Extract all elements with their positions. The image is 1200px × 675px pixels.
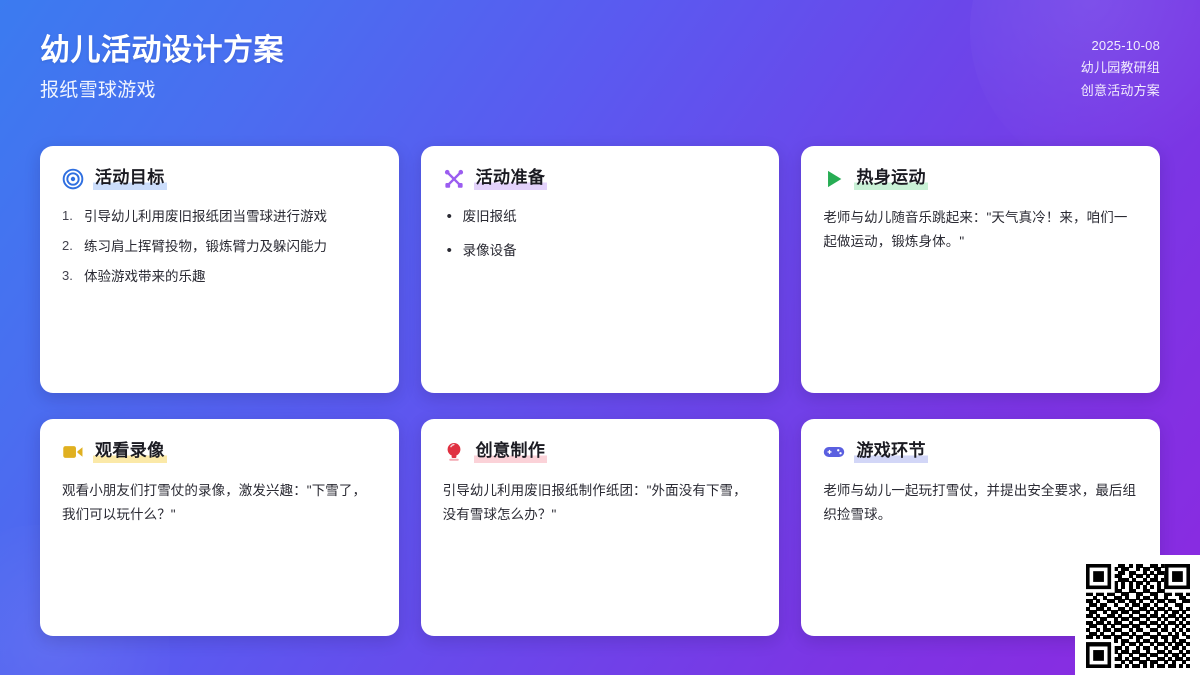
card-body: 老师与幼儿随音乐跳起来："天气真冷！来，咱们一起做运动，锻炼身体。" bbox=[823, 206, 1138, 254]
play-icon bbox=[823, 168, 845, 190]
card-title: 创意制作 bbox=[474, 441, 548, 463]
card-title: 热身运动 bbox=[854, 168, 928, 190]
card-body: 引导幼儿利用废旧报纸团当雪球进行游戏 练习肩上挥臂投物，锻炼臂力及躲闪能力 体验… bbox=[62, 206, 377, 295]
card-objectives[interactable]: 活动目标 引导幼儿利用废旧报纸团当雪球进行游戏 练习肩上挥臂投物，锻炼臂力及躲闪… bbox=[40, 146, 399, 393]
qr-code[interactable] bbox=[1075, 555, 1200, 675]
list-item: 引导幼儿利用废旧报纸团当雪球进行游戏 bbox=[62, 206, 377, 228]
card-header: 热身运动 bbox=[823, 168, 1138, 190]
card-paragraph: 老师与幼儿随音乐跳起来："天气真冷！来，咱们一起做运动，锻炼身体。" bbox=[823, 206, 1138, 254]
card-title: 活动目标 bbox=[93, 168, 167, 190]
card-preparation[interactable]: 活动准备 废旧报纸 录像设备 bbox=[421, 146, 780, 393]
card-body: 废旧报纸 录像设备 bbox=[443, 206, 758, 273]
card-creative-making[interactable]: 创意制作 引导幼儿利用废旧报纸制作纸团："外面没有下雪，没有雪球怎么办？" bbox=[421, 419, 780, 636]
list-item: 录像设备 bbox=[443, 240, 758, 262]
card-paragraph: 老师与幼儿一起玩打雪仗，并提出安全要求，最后组织捡雪球。 bbox=[823, 479, 1138, 527]
card-header: 创意制作 bbox=[443, 441, 758, 463]
game-controller-icon bbox=[823, 441, 845, 463]
meta-date: 2025-10-08 bbox=[1092, 35, 1161, 57]
card-title: 活动准备 bbox=[474, 168, 548, 190]
card-body: 引导幼儿利用废旧报纸制作纸团："外面没有下雪，没有雪球怎么办？" bbox=[443, 479, 758, 527]
meta-organization: 幼儿园教研组 bbox=[1081, 57, 1160, 79]
objectives-list: 引导幼儿利用废旧报纸团当雪球进行游戏 练习肩上挥臂投物，锻炼臂力及躲闪能力 体验… bbox=[62, 206, 377, 287]
tools-icon bbox=[443, 168, 465, 190]
list-item: 练习肩上挥臂投物，锻炼臂力及躲闪能力 bbox=[62, 236, 377, 258]
card-paragraph: 引导幼儿利用废旧报纸制作纸团："外面没有下雪，没有雪球怎么办？" bbox=[443, 479, 758, 527]
card-header: 游戏环节 bbox=[823, 441, 1138, 463]
header-meta-block: 2025-10-08 幼儿园教研组 创意活动方案 bbox=[1081, 32, 1160, 102]
list-item: 体验游戏带来的乐趣 bbox=[62, 266, 377, 288]
meta-category: 创意活动方案 bbox=[1081, 80, 1160, 102]
lightbulb-icon bbox=[443, 441, 465, 463]
qr-code-canvas bbox=[1086, 564, 1190, 668]
page-title: 幼儿活动设计方案 bbox=[40, 32, 284, 70]
card-body: 老师与幼儿一起玩打雪仗，并提出安全要求，最后组织捡雪球。 bbox=[823, 479, 1138, 527]
video-camera-icon bbox=[62, 441, 84, 463]
card-header: 活动准备 bbox=[443, 168, 758, 190]
card-title: 游戏环节 bbox=[854, 441, 928, 463]
card-header: 活动目标 bbox=[62, 168, 377, 190]
card-paragraph: 观看小朋友们打雪仗的录像，激发兴趣："下雪了，我们可以玩什么？" bbox=[62, 479, 377, 527]
target-icon bbox=[62, 168, 84, 190]
preparation-list: 废旧报纸 录像设备 bbox=[443, 206, 758, 261]
card-header: 观看录像 bbox=[62, 441, 377, 463]
card-grid: 活动目标 引导幼儿利用废旧报纸团当雪球进行游戏 练习肩上挥臂投物，锻炼臂力及躲闪… bbox=[40, 146, 1160, 636]
card-title: 观看录像 bbox=[93, 441, 167, 463]
page-subtitle: 报纸雪球游戏 bbox=[40, 79, 284, 104]
list-item: 废旧报纸 bbox=[443, 206, 758, 228]
slide-header: 幼儿活动设计方案 报纸雪球游戏 2025-10-08 幼儿园教研组 创意活动方案 bbox=[0, 0, 1200, 128]
card-body: 观看小朋友们打雪仗的录像，激发兴趣："下雪了，我们可以玩什么？" bbox=[62, 479, 377, 527]
card-warmup[interactable]: 热身运动 老师与幼儿随音乐跳起来："天气真冷！来，咱们一起做运动，锻炼身体。" bbox=[801, 146, 1160, 393]
card-watch-video[interactable]: 观看录像 观看小朋友们打雪仗的录像，激发兴趣："下雪了，我们可以玩什么？" bbox=[40, 419, 399, 636]
header-title-block: 幼儿活动设计方案 报纸雪球游戏 bbox=[40, 32, 284, 103]
